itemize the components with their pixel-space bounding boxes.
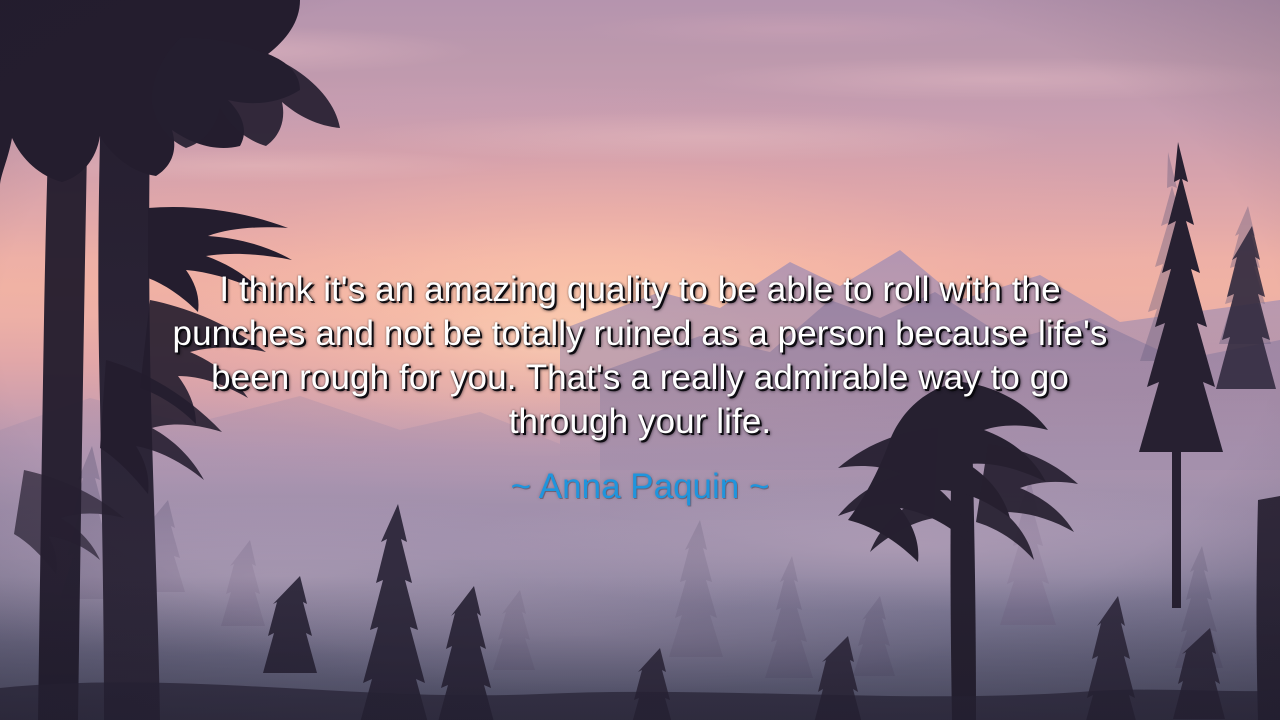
quote-wallpaper: I think it's an amazing quality to be ab… [0, 0, 1280, 720]
quote-author: ~ Anna Paquin ~ [80, 466, 1200, 508]
quote-text: I think it's an amazing quality to be ab… [80, 268, 1200, 444]
quote-block: I think it's an amazing quality to be ab… [80, 268, 1200, 508]
